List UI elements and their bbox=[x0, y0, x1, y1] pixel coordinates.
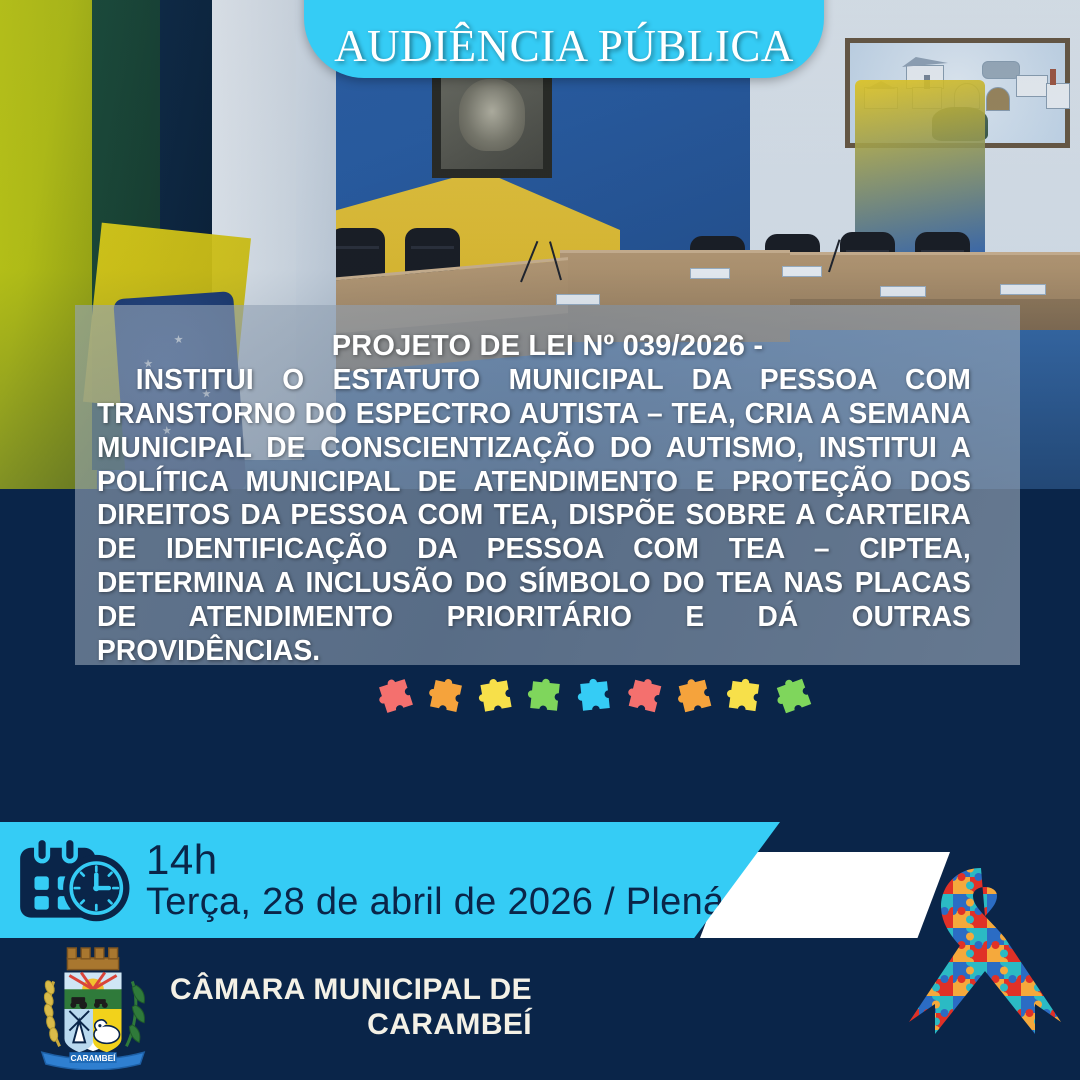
puzzle-piece-icon bbox=[773, 675, 815, 717]
poster-canvas: AUDIÊNCIA PÚBLICA PROJETO DE LEI Nº 039/… bbox=[0, 0, 1080, 1080]
puzzle-piece-icon bbox=[425, 675, 467, 717]
organization-line-1: CÂMARA MUNICIPAL DE bbox=[170, 972, 532, 1007]
law-number: PROJETO DE LEI Nº 039/2026 - bbox=[97, 331, 998, 362]
header-banner: AUDIÊNCIA PÚBLICA bbox=[304, 0, 824, 78]
event-time: 14h bbox=[146, 839, 768, 881]
puzzle-piece-icon bbox=[723, 675, 765, 717]
puzzle-divider bbox=[375, 668, 815, 724]
organization-line-2: CARAMBEÍ bbox=[170, 1007, 532, 1042]
event-datetime: 14h Terça, 28 de abril de 2026 / Plenári… bbox=[146, 839, 768, 921]
puzzle-piece-icon bbox=[624, 675, 666, 717]
autism-awareness-ribbon bbox=[885, 826, 1077, 1074]
footer-branding: CARAMBEÍ CÂMARA MUNICIPAL DE CARAMBEÍ bbox=[34, 944, 532, 1070]
page-title: AUDIÊNCIA PÚBLICA bbox=[334, 20, 794, 72]
event-info-bar: 14h Terça, 28 de abril de 2026 / Plenári… bbox=[0, 822, 780, 938]
calendar-clock-icon bbox=[14, 837, 132, 923]
puzzle-piece-icon bbox=[475, 675, 517, 717]
organization-name: CÂMARA MUNICIPAL DE CARAMBEÍ bbox=[170, 972, 532, 1043]
crest-ribbon-text: CARAMBEÍ bbox=[71, 1052, 117, 1063]
puzzle-piece-icon bbox=[574, 675, 616, 717]
puzzle-piece-icon bbox=[524, 675, 566, 717]
event-date-location: Terça, 28 de abril de 2026 / Plenário bbox=[146, 883, 768, 921]
puzzle-piece-icon bbox=[375, 675, 417, 717]
announcement-panel: PROJETO DE LEI Nº 039/2026 - INSTITUI O … bbox=[75, 305, 1020, 665]
law-description: INSTITUI O ESTATUTO MUNICIPAL DA PESSOA … bbox=[97, 364, 971, 669]
puzzle-piece-icon bbox=[674, 675, 716, 717]
carambei-coat-of-arms: CARAMBEÍ bbox=[34, 944, 152, 1070]
